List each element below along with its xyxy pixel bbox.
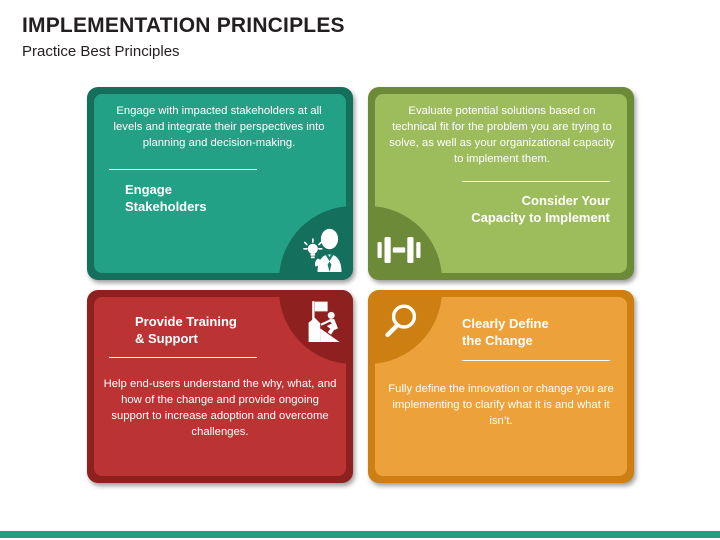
page-subtitle: Practice Best Principles [22,44,345,61]
card-title: Engage Stakeholders [125,182,335,215]
card-description: Help end-users understand the why, what,… [103,376,337,440]
card-clearly-define-change[interactable]: Clearly Define the Change Fully define t… [368,290,634,483]
card-divider [462,360,610,361]
card-consider-capacity[interactable]: Evaluate potential solutions based on te… [368,87,634,280]
card-engage-stakeholders[interactable]: Engage with impacted stakeholders at all… [87,87,353,280]
bottom-accent-bar [0,531,720,538]
header: IMPLEMENTATION PRINCIPLES Practice Best … [22,14,345,61]
card-description: Evaluate potential solutions based on te… [386,103,618,167]
card-title: Consider Your Capacity to Implement [386,193,610,226]
card-description: Engage with impacted stakeholders at all… [103,103,335,151]
principles-grid: Engage with impacted stakeholders at all… [87,87,634,495]
card-content: Evaluate potential solutions based on te… [368,87,634,280]
card-title-line1: Consider Your [386,193,610,210]
card-content: Provide Training & Support Help end-user… [87,290,353,483]
card-title: Provide Training & Support [135,314,337,347]
card-title-line1: Provide Training [135,314,337,331]
card-title: Clearly Define the Change [462,316,618,349]
card-title-line2: Stakeholders [125,199,335,216]
page-title: IMPLEMENTATION PRINCIPLES [22,14,345,37]
card-provide-training-support[interactable]: Provide Training & Support Help end-user… [87,290,353,483]
card-title-line1: Engage [125,182,335,199]
card-divider [109,357,257,358]
card-divider [109,169,257,170]
card-title-line2: Capacity to Implement [386,210,610,227]
card-title-line2: the Change [462,333,618,350]
card-description: Fully define the innovation or change yo… [384,381,618,429]
card-content: Clearly Define the Change Fully define t… [368,290,634,483]
card-title-line1: Clearly Define [462,316,618,333]
card-content: Engage with impacted stakeholders at all… [87,87,353,280]
card-title-line2: & Support [135,331,337,348]
card-divider [462,181,610,182]
